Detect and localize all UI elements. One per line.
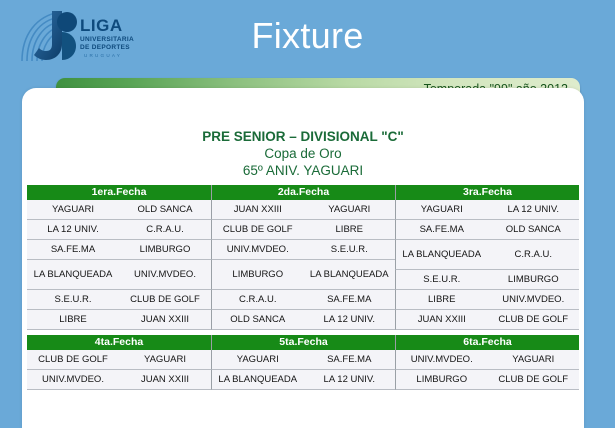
match-row: S.E.U.R.CLUB DE GOLF [27, 290, 211, 310]
match-row: C.R.A.U.SA.FE.MA [211, 290, 395, 310]
fecha-header: 1era.Fecha [27, 185, 211, 200]
team-away: YAGUARI [488, 352, 580, 367]
team-away: S.E.U.R. [304, 242, 396, 257]
team-away: LA 12 UNIV. [304, 312, 396, 327]
team-away: LA 12 UNIV. [488, 202, 580, 217]
team-away: C.R.A.U. [119, 222, 211, 237]
match-row: YAGUARILA 12 UNIV. [395, 200, 579, 220]
team-away: LA BLANQUEADA [304, 267, 396, 282]
team-home: LA 12 UNIV. [27, 222, 119, 237]
team-home: C.R.A.U. [212, 292, 304, 307]
team-home: OLD SANCA [212, 312, 304, 327]
team-home: CLUB DE GOLF [212, 222, 304, 237]
team-home: YAGUARI [27, 202, 119, 217]
fecha-header: 4ta.Fecha [27, 335, 211, 350]
match-row: CLUB DE GOLFLIBRE [211, 220, 395, 240]
team-home: S.E.U.R. [27, 292, 119, 307]
match-row: JUAN XXIIIYAGUARI [211, 200, 395, 220]
match-row: CLUB DE GOLFYAGUARI [27, 350, 211, 370]
match-row: LIMBURGOCLUB DE GOLF [395, 370, 579, 390]
team-away: CLUB DE GOLF [119, 292, 211, 307]
fecha-column: 3ra.FechaYAGUARILA 12 UNIV.SA.FE.MAOLD S… [395, 185, 579, 390]
match-row: LA 12 UNIV.C.R.A.U. [27, 220, 211, 240]
team-away: LA 12 UNIV. [304, 372, 396, 387]
fecha-block: 6ta.FechaUNIV.MVDEO.YAGUARILIMBURGOCLUB … [395, 335, 579, 390]
match-row: JUAN XXIIICLUB DE GOLF [395, 310, 579, 330]
team-home: S.E.U.R. [396, 272, 488, 287]
headline-division: PRE SENIOR – DIVISIONAL "C" [22, 128, 584, 145]
fecha-block: 5ta.FechaYAGUARISA.FE.MALA BLANQUEADALA … [211, 335, 395, 390]
team-away: YAGUARI [304, 202, 396, 217]
team-home: YAGUARI [212, 352, 304, 367]
fecha-block: 4ta.FechaCLUB DE GOLFYAGUARIUNIV.MVDEO.J… [27, 335, 211, 390]
fecha-header: 5ta.Fecha [211, 335, 395, 350]
team-away: UNIV.MVDEO. [488, 292, 580, 307]
team-home: JUAN XXIII [396, 312, 488, 327]
match-row: UNIV.MVDEO.S.E.U.R. [211, 240, 395, 260]
match-row: SA.FE.MALIMBURGO [27, 240, 211, 260]
team-home: JUAN XXIII [212, 202, 304, 217]
team-home: CLUB DE GOLF [27, 352, 119, 367]
fecha-header: 2da.Fecha [211, 185, 395, 200]
team-away: CLUB DE GOLF [488, 312, 580, 327]
team-away: CLUB DE GOLF [488, 372, 580, 387]
team-away: SA.FE.MA [304, 352, 396, 367]
team-away: LIBRE [304, 222, 396, 237]
team-home: UNIV.MVDEO. [27, 372, 119, 387]
page-title: Fixture [0, 14, 615, 58]
team-away: JUAN XXIII [119, 312, 211, 327]
team-home: LA BLANQUEADA [212, 372, 304, 387]
match-row: LIBREUNIV.MVDEO. [395, 290, 579, 310]
team-home: LIBRE [396, 292, 488, 307]
content-panel: PRE SENIOR – DIVISIONAL "C" Copa de Oro … [22, 88, 584, 428]
team-away: SA.FE.MA [304, 292, 396, 307]
page-header: LIGA UNIVERSITARIA DE DEPORTES URUGUAY F… [0, 0, 615, 72]
fecha-block: 3ra.FechaYAGUARILA 12 UNIV.SA.FE.MAOLD S… [395, 185, 579, 330]
team-away: LIMBURGO [119, 242, 211, 257]
team-home: YAGUARI [396, 202, 488, 217]
team-away: JUAN XXIII [119, 372, 211, 387]
division-headline: PRE SENIOR – DIVISIONAL "C" Copa de Oro … [22, 128, 584, 180]
match-row: YAGUARIOLD SANCA [27, 200, 211, 220]
match-row: LIBREJUAN XXIII [27, 310, 211, 330]
team-away: LIMBURGO [488, 272, 580, 287]
team-away: OLD SANCA [488, 222, 580, 237]
team-home: LA BLANQUEADA [396, 247, 488, 262]
fixture-table: 1era.FechaYAGUARIOLD SANCALA 12 UNIV.C.R… [27, 185, 579, 390]
fecha-column: 2da.FechaJUAN XXIIIYAGUARICLUB DE GOLFLI… [211, 185, 395, 390]
team-home: LIMBURGO [396, 372, 488, 387]
match-row: LA BLANQUEADAUNIV.MVDEO. [27, 260, 211, 290]
headline-cup: Copa de Oro [22, 145, 584, 162]
headline-anniversary: 65º ANIV. YAGUARI [22, 162, 584, 180]
team-away: YAGUARI [119, 352, 211, 367]
team-away: UNIV.MVDEO. [119, 267, 211, 282]
team-home: LIMBURGO [212, 267, 304, 282]
match-row: LA BLANQUEADAC.R.A.U. [395, 240, 579, 270]
fecha-header: 3ra.Fecha [395, 185, 579, 200]
fecha-block: 2da.FechaJUAN XXIIIYAGUARICLUB DE GOLFLI… [211, 185, 395, 330]
match-row: S.E.U.R.LIMBURGO [395, 270, 579, 290]
fecha-block: 1era.FechaYAGUARIOLD SANCALA 12 UNIV.C.R… [27, 185, 211, 330]
team-away: C.R.A.U. [488, 247, 580, 262]
match-row: UNIV.MVDEO.YAGUARI [395, 350, 579, 370]
team-away: OLD SANCA [119, 202, 211, 217]
match-row: YAGUARISA.FE.MA [211, 350, 395, 370]
team-home: SA.FE.MA [27, 242, 119, 257]
match-row: SA.FE.MAOLD SANCA [395, 220, 579, 240]
fixture-grid: 1era.FechaYAGUARIOLD SANCALA 12 UNIV.C.R… [27, 185, 579, 390]
fecha-column: 1era.FechaYAGUARIOLD SANCALA 12 UNIV.C.R… [27, 185, 211, 390]
match-row: LA BLANQUEADALA 12 UNIV. [211, 370, 395, 390]
team-home: SA.FE.MA [396, 222, 488, 237]
fecha-header: 6ta.Fecha [395, 335, 579, 350]
match-row: UNIV.MVDEO.JUAN XXIII [27, 370, 211, 390]
team-home: UNIV.MVDEO. [212, 242, 304, 257]
team-home: LA BLANQUEADA [27, 267, 119, 282]
team-home: UNIV.MVDEO. [396, 352, 488, 367]
team-home: LIBRE [27, 312, 119, 327]
match-row: LIMBURGOLA BLANQUEADA [211, 260, 395, 290]
match-row: OLD SANCALA 12 UNIV. [211, 310, 395, 330]
